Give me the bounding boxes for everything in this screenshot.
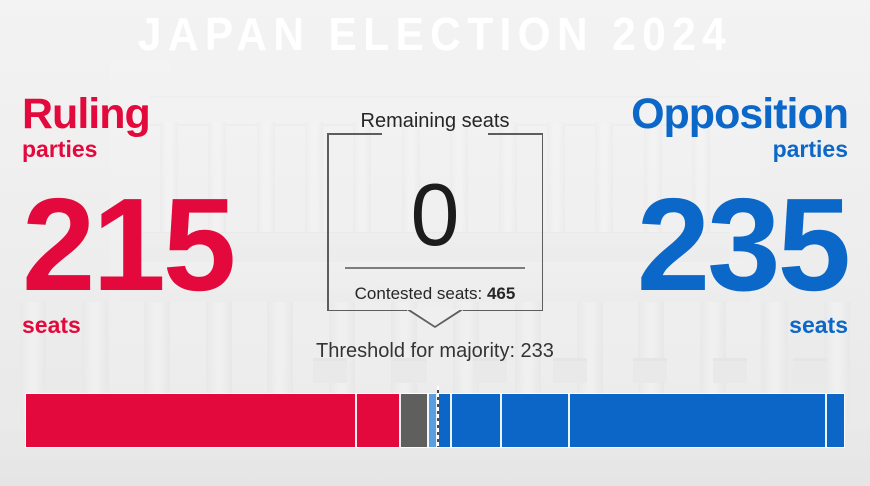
callout-pointer-fill — [409, 309, 461, 326]
remaining-seats-callout: Remaining seats 0 Contested seats: 465 — [327, 133, 543, 311]
seat-bar-segment — [427, 394, 436, 447]
opposition-parties-subheading: parties — [548, 136, 848, 162]
seat-bar-segment — [399, 394, 427, 447]
majority-threshold-caption: Threshold for majority: 233 — [0, 338, 870, 364]
seat-bar-segment — [355, 394, 398, 447]
contested-seats-line: Contested seats: 465 — [327, 277, 543, 311]
seat-bar-segment — [450, 394, 500, 447]
seat-bar-segment — [825, 394, 844, 447]
ruling-parties-subheading: parties — [22, 136, 322, 162]
seat-bar-segment — [500, 394, 568, 447]
ruling-parties-block: Ruling parties 215 seats — [22, 92, 322, 338]
election-infographic: JAPAN ELECTION 2024 Ruling parties 215 s… — [0, 0, 870, 486]
remaining-seats-title: Remaining seats — [327, 109, 543, 134]
ruling-parties-heading: Ruling — [22, 92, 322, 137]
majority-threshold-marker — [437, 386, 439, 447]
opposition-seat-count: 235 — [548, 186, 848, 304]
page-title: JAPAN ELECTION 2024 — [35, 8, 835, 60]
ruling-seat-count: 215 — [22, 186, 322, 304]
opposition-parties-block: Opposition parties 235 seats — [548, 92, 848, 338]
opposition-parties-heading: Opposition — [548, 92, 848, 137]
seat-distribution-bar — [26, 394, 844, 447]
seat-bar-segment — [26, 394, 355, 447]
remaining-seats-value: 0 — [327, 171, 543, 259]
callout-divider — [345, 267, 525, 269]
contested-seats-label: Contested seats: — [355, 284, 483, 303]
seat-bar-segment — [568, 394, 825, 447]
contested-seats-value: 465 — [487, 284, 515, 303]
